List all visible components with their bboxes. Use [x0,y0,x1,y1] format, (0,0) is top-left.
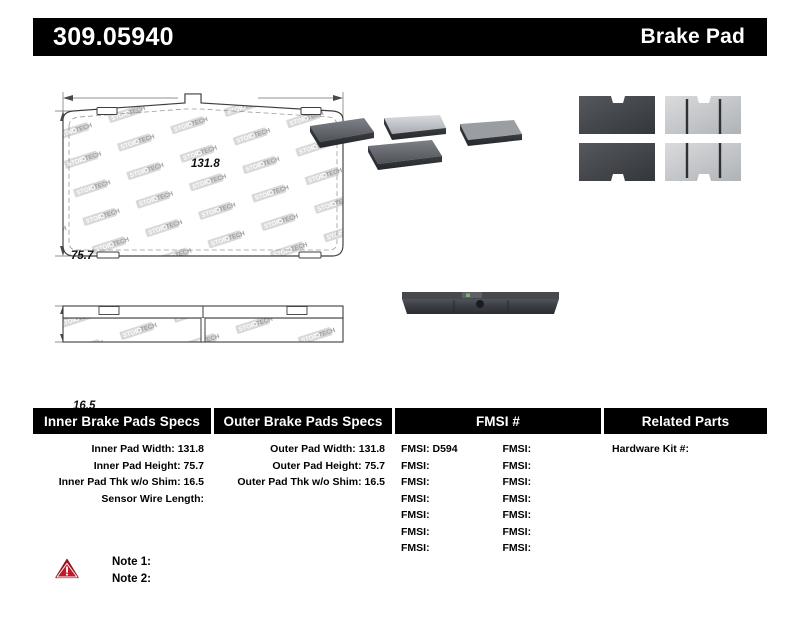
inner-spec-row: Sensor Wire Length: [33,491,204,508]
notes-section: Note 1: Note 2: [55,554,151,588]
product-photo-side-profile [398,287,563,319]
product-photo-pad-faces [575,92,745,187]
column-header-inner-specs: Inner Brake Pads Specs [33,408,214,434]
column-header-related-parts: Related Parts [604,408,767,434]
spec-sheet: 309.05940 Brake Pad 131.8 75.7 16.5 STOP… [0,0,800,619]
fmsi-row: FMSI: [503,458,605,475]
fmsi-row: FMSI: [503,524,605,541]
inner-spec-row: Inner Pad Height: 75.7 [33,458,204,475]
outer-specs-cell: Outer Pad Width: 131.8 Outer Pad Height:… [214,441,395,557]
dimension-width-label: 131.8 [191,158,220,170]
spec-table: Inner Brake Pads Specs Outer Brake Pads … [33,408,767,557]
fmsi-row: FMSI: [401,524,503,541]
fmsi-row: FMSI: D594 [401,441,503,458]
fmsi-row: FMSI: [503,540,605,557]
fmsi-row: FMSI: [401,491,503,508]
spec-table-body: Inner Pad Width: 131.8 Inner Pad Height:… [33,434,767,557]
column-header-fmsi: FMSI # [395,408,604,434]
fmsi-cell: FMSI: D594 FMSI: FMSI: FMSI: FMSI: FMSI:… [395,441,604,557]
spec-table-header-row: Inner Brake Pads Specs Outer Brake Pads … [33,408,767,434]
fmsi-row: FMSI: [503,491,605,508]
fmsi-row: FMSI: [401,474,503,491]
inner-spec-row: Inner Pad Width: 131.8 [33,441,204,458]
fmsi-row: FMSI: [401,458,503,475]
product-type: Brake Pad [640,25,745,49]
fmsi-row: FMSI: [401,540,503,557]
column-header-outer-specs: Outer Brake Pads Specs [214,408,395,434]
inner-spec-row: Inner Pad Thk w/o Shim: 16.5 [33,474,204,491]
outer-spec-row: Outer Pad Width: 131.8 [214,441,385,458]
inner-specs-cell: Inner Pad Width: 131.8 Inner Pad Height:… [33,441,214,557]
dimension-height-label: 75.7 [71,250,93,262]
fmsi-column-left: FMSI: D594 FMSI: FMSI: FMSI: FMSI: FMSI:… [401,441,503,557]
related-parts-cell: Hardware Kit #: [604,441,767,557]
fmsi-row: FMSI: [503,474,605,491]
product-photo-pad-set [300,98,535,178]
fmsi-row: FMSI: [503,441,605,458]
fmsi-row: FMSI: [401,507,503,524]
part-number: 309.05940 [53,23,174,52]
note-row: Note 1: [112,554,151,571]
outer-spec-row: Outer Pad Thk w/o Shim: 16.5 [214,474,385,491]
note-list: Note 1: Note 2: [112,554,151,588]
warning-triangle-icon [55,558,79,579]
fmsi-row: FMSI: [503,507,605,524]
pad-side-view [63,306,343,342]
note-row: Note 2: [112,571,151,588]
fmsi-column-right: FMSI: FMSI: FMSI: FMSI: FMSI: FMSI: FMSI… [503,441,605,557]
outer-spec-row: Outer Pad Height: 75.7 [214,458,385,475]
related-part-row: Hardware Kit #: [612,441,767,458]
header-bar: 309.05940 Brake Pad [33,18,767,56]
